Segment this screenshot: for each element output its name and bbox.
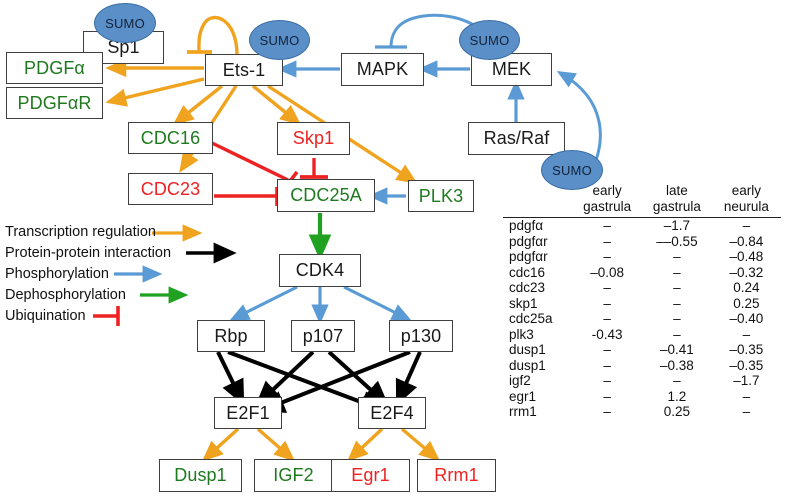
table-cell-early-gastrula: – (572, 358, 642, 374)
legend-label-phosphorylation: Phosphorylation (5, 266, 109, 282)
table-row: dusp1––0.41–0.35 (503, 342, 781, 358)
edge-p130-to-e2f4 (400, 352, 420, 397)
table-row: skp1––0.25 (503, 296, 781, 312)
table-cell-gene: dusp1 (503, 358, 572, 374)
table-cell-early-neurula: –0.35 (712, 342, 781, 358)
table-cell-gene: skp1 (503, 296, 572, 312)
node-rrm1[interactable]: Rrm1 (417, 459, 496, 492)
table-cell-early-neurula: –0.84 (712, 234, 781, 250)
table-row: plk3-0.43–– (503, 327, 781, 343)
table-cell-late-gastrula: 1.2 (642, 389, 712, 405)
node-cdc23[interactable]: CDC23 (128, 173, 213, 205)
node-plk3[interactable]: PLK3 (408, 180, 474, 212)
table-row: pdgfα––1.7– (503, 218, 781, 234)
table-cell-gene: rrm1 (503, 404, 572, 420)
table-header: early late early gastrula gastrula neuru… (503, 183, 781, 218)
table-cell-late-gastrula: –0.41 (642, 342, 712, 358)
node-rbp[interactable]: Rbp (197, 320, 265, 352)
table-cell-gene: egr1 (503, 389, 572, 405)
table-cell-late-gastrula: –1.7 (642, 218, 712, 234)
table-cell-gene: pdgfαr (503, 249, 572, 265)
node-cdk4[interactable]: CDK4 (279, 254, 361, 287)
table-cell-early-gastrula: – (572, 280, 642, 296)
table-row: rrm1–0.25– (503, 404, 781, 420)
node-dusp1[interactable]: Dusp1 (159, 459, 242, 492)
node-p130[interactable]: p130 (389, 320, 453, 352)
table-cell-late-gastrula: – (642, 296, 712, 312)
edge-e2f4-to-egr1 (352, 429, 382, 457)
edge-ets1-inhibits-sp1 (199, 18, 237, 55)
table-cell-late-gastrula: 0.25 (642, 404, 712, 420)
node-pdgfa[interactable]: PDGFα (6, 52, 103, 84)
table-cell-gene: cdc25a (503, 311, 572, 327)
edge-cdk4-to-rbp (235, 287, 297, 318)
node-mapk[interactable]: MAPK (341, 53, 424, 86)
table-cell-early-neurula: –0.40 (712, 311, 781, 327)
table-cell-late-gastrula: –0.38 (642, 358, 712, 374)
edge-e2f1-to-dusp1 (207, 429, 238, 457)
table-cell-gene: pdgfαr (503, 234, 572, 250)
legend-label-protein-protein-interaction: Protein-protein interaction (5, 245, 171, 261)
table-cell-early-gastrula: -0.43 (572, 327, 642, 343)
table-cell-early-neurula: – (712, 218, 781, 234)
table-cell-early-neurula: – (712, 389, 781, 405)
table-cell-early-neurula: –0.48 (712, 249, 781, 265)
edge-cdk4-to-p130 (344, 287, 406, 318)
table-row: cdc16–0.08––0.32 (503, 265, 781, 281)
table-cell-gene: dusp1 (503, 342, 572, 358)
table-header-gene-top (503, 183, 572, 199)
table-cell-late-gastrula: – (642, 280, 712, 296)
table-header-row-bottom: gastrula gastrula neurula (503, 199, 781, 215)
table-row: pdgfαr–––0.48 (503, 249, 781, 265)
table-cell-late-gastrula: ––0.55 (642, 234, 712, 250)
table-cell-early-gastrula: – (572, 218, 642, 234)
table-cell-late-gastrula: – (642, 327, 712, 343)
sumo-badge-sp1[interactable]: SUMO (94, 3, 156, 43)
table-row: egr1–1.2– (503, 389, 781, 405)
pathway-figure: Sp1 Ets-1 MAPK MEK Ras/Raf PDGFα PDGFαR … (0, 0, 785, 497)
table-row: pdgfαr–––0.55–0.84 (503, 234, 781, 250)
table-cell-early-neurula: 0.25 (712, 296, 781, 312)
table-cell-early-neurula: – (712, 404, 781, 420)
edge-rbp-to-e2f1 (218, 352, 240, 397)
table-header-row-top: early late early (503, 183, 781, 199)
table-cell-gene: cdc16 (503, 265, 572, 281)
table-header-late-gastrula-top: late (642, 183, 712, 199)
table-cell-early-neurula: –1.7 (712, 373, 781, 389)
legend-label-dephosphorylation: Dephosphorylation (5, 287, 126, 303)
table-cell-early-neurula: –0.35 (712, 358, 781, 374)
table-cell-gene: cdc23 (503, 280, 572, 296)
node-egr1[interactable]: Egr1 (331, 459, 410, 492)
table-row: igf2–––1.7 (503, 373, 781, 389)
sumo-badge-ets1[interactable]: SUMO (249, 20, 310, 60)
table-cell-early-gastrula: –0.08 (572, 265, 642, 281)
expression-table: early late early gastrula gastrula neuru… (503, 183, 781, 420)
table-cell-early-gastrula: – (572, 404, 642, 420)
node-cdc16[interactable]: CDC16 (128, 122, 213, 154)
table-cell-early-neurula: – (712, 327, 781, 343)
node-e2f1[interactable]: E2F1 (214, 397, 282, 429)
legend-label-ubiquination: Ubiquination (5, 308, 86, 324)
table-header-gene-bottom (503, 199, 572, 215)
table-cell-early-gastrula: – (572, 234, 642, 250)
table-body: pdgfα––1.7–pdgfαr–––0.55–0.84pdgfαr–––0.… (503, 218, 781, 420)
table-cell-late-gastrula: – (642, 311, 712, 327)
table-cell-early-neurula: 0.24 (712, 280, 781, 296)
node-rasraf[interactable]: Ras/Raf (468, 122, 565, 155)
node-igf2[interactable]: IGF2 (254, 459, 333, 492)
node-p107[interactable]: p107 (291, 320, 355, 352)
edge-e2f1-to-igf2 (258, 429, 290, 457)
table-cell-gene: igf2 (503, 373, 572, 389)
table-cell-early-gastrula: – (572, 249, 642, 265)
sumo-badge-mek[interactable]: SUMO (459, 20, 520, 60)
table-row: dusp1––0.38–0.35 (503, 358, 781, 374)
node-skp1[interactable]: Skp1 (277, 122, 350, 155)
table-cell-late-gastrula: – (642, 265, 712, 281)
table-row: cdc23––0.24 (503, 280, 781, 296)
table-cell-gene: plk3 (503, 327, 572, 343)
edge-e2f4-to-rrm1 (402, 429, 435, 457)
table-cell-late-gastrula: – (642, 249, 712, 265)
table-header-early-gastrula-top: early (572, 183, 642, 199)
table-cell-early-gastrula: – (572, 342, 642, 358)
node-cdc25a[interactable]: CDC25A (277, 179, 375, 212)
table-header-early-neurula-top: early (712, 183, 781, 199)
edge-ets1-to-pdgfar (112, 79, 204, 101)
node-pdgfar[interactable]: PDGFαR (6, 87, 103, 119)
table-cell-early-gastrula: – (572, 311, 642, 327)
node-e2f4[interactable]: E2F4 (358, 397, 426, 429)
table-cell-early-gastrula: – (572, 389, 642, 405)
table-cell-gene: pdgfα (503, 218, 572, 234)
table-cell-early-neurula: –0.32 (712, 265, 781, 281)
table-row: cdc25a–––0.40 (503, 311, 781, 327)
table-cell-early-gastrula: – (572, 296, 642, 312)
legend-label-transcription-regulation: Transcription regulation (5, 224, 156, 240)
table-header-early-gastrula-bottom: gastrula (572, 199, 642, 215)
table-cell-late-gastrula: – (642, 373, 712, 389)
table-header-early-neurula-bottom: neurula (712, 199, 781, 215)
table-cell-early-gastrula: – (572, 373, 642, 389)
table-header-late-gastrula-bottom: gastrula (642, 199, 712, 215)
